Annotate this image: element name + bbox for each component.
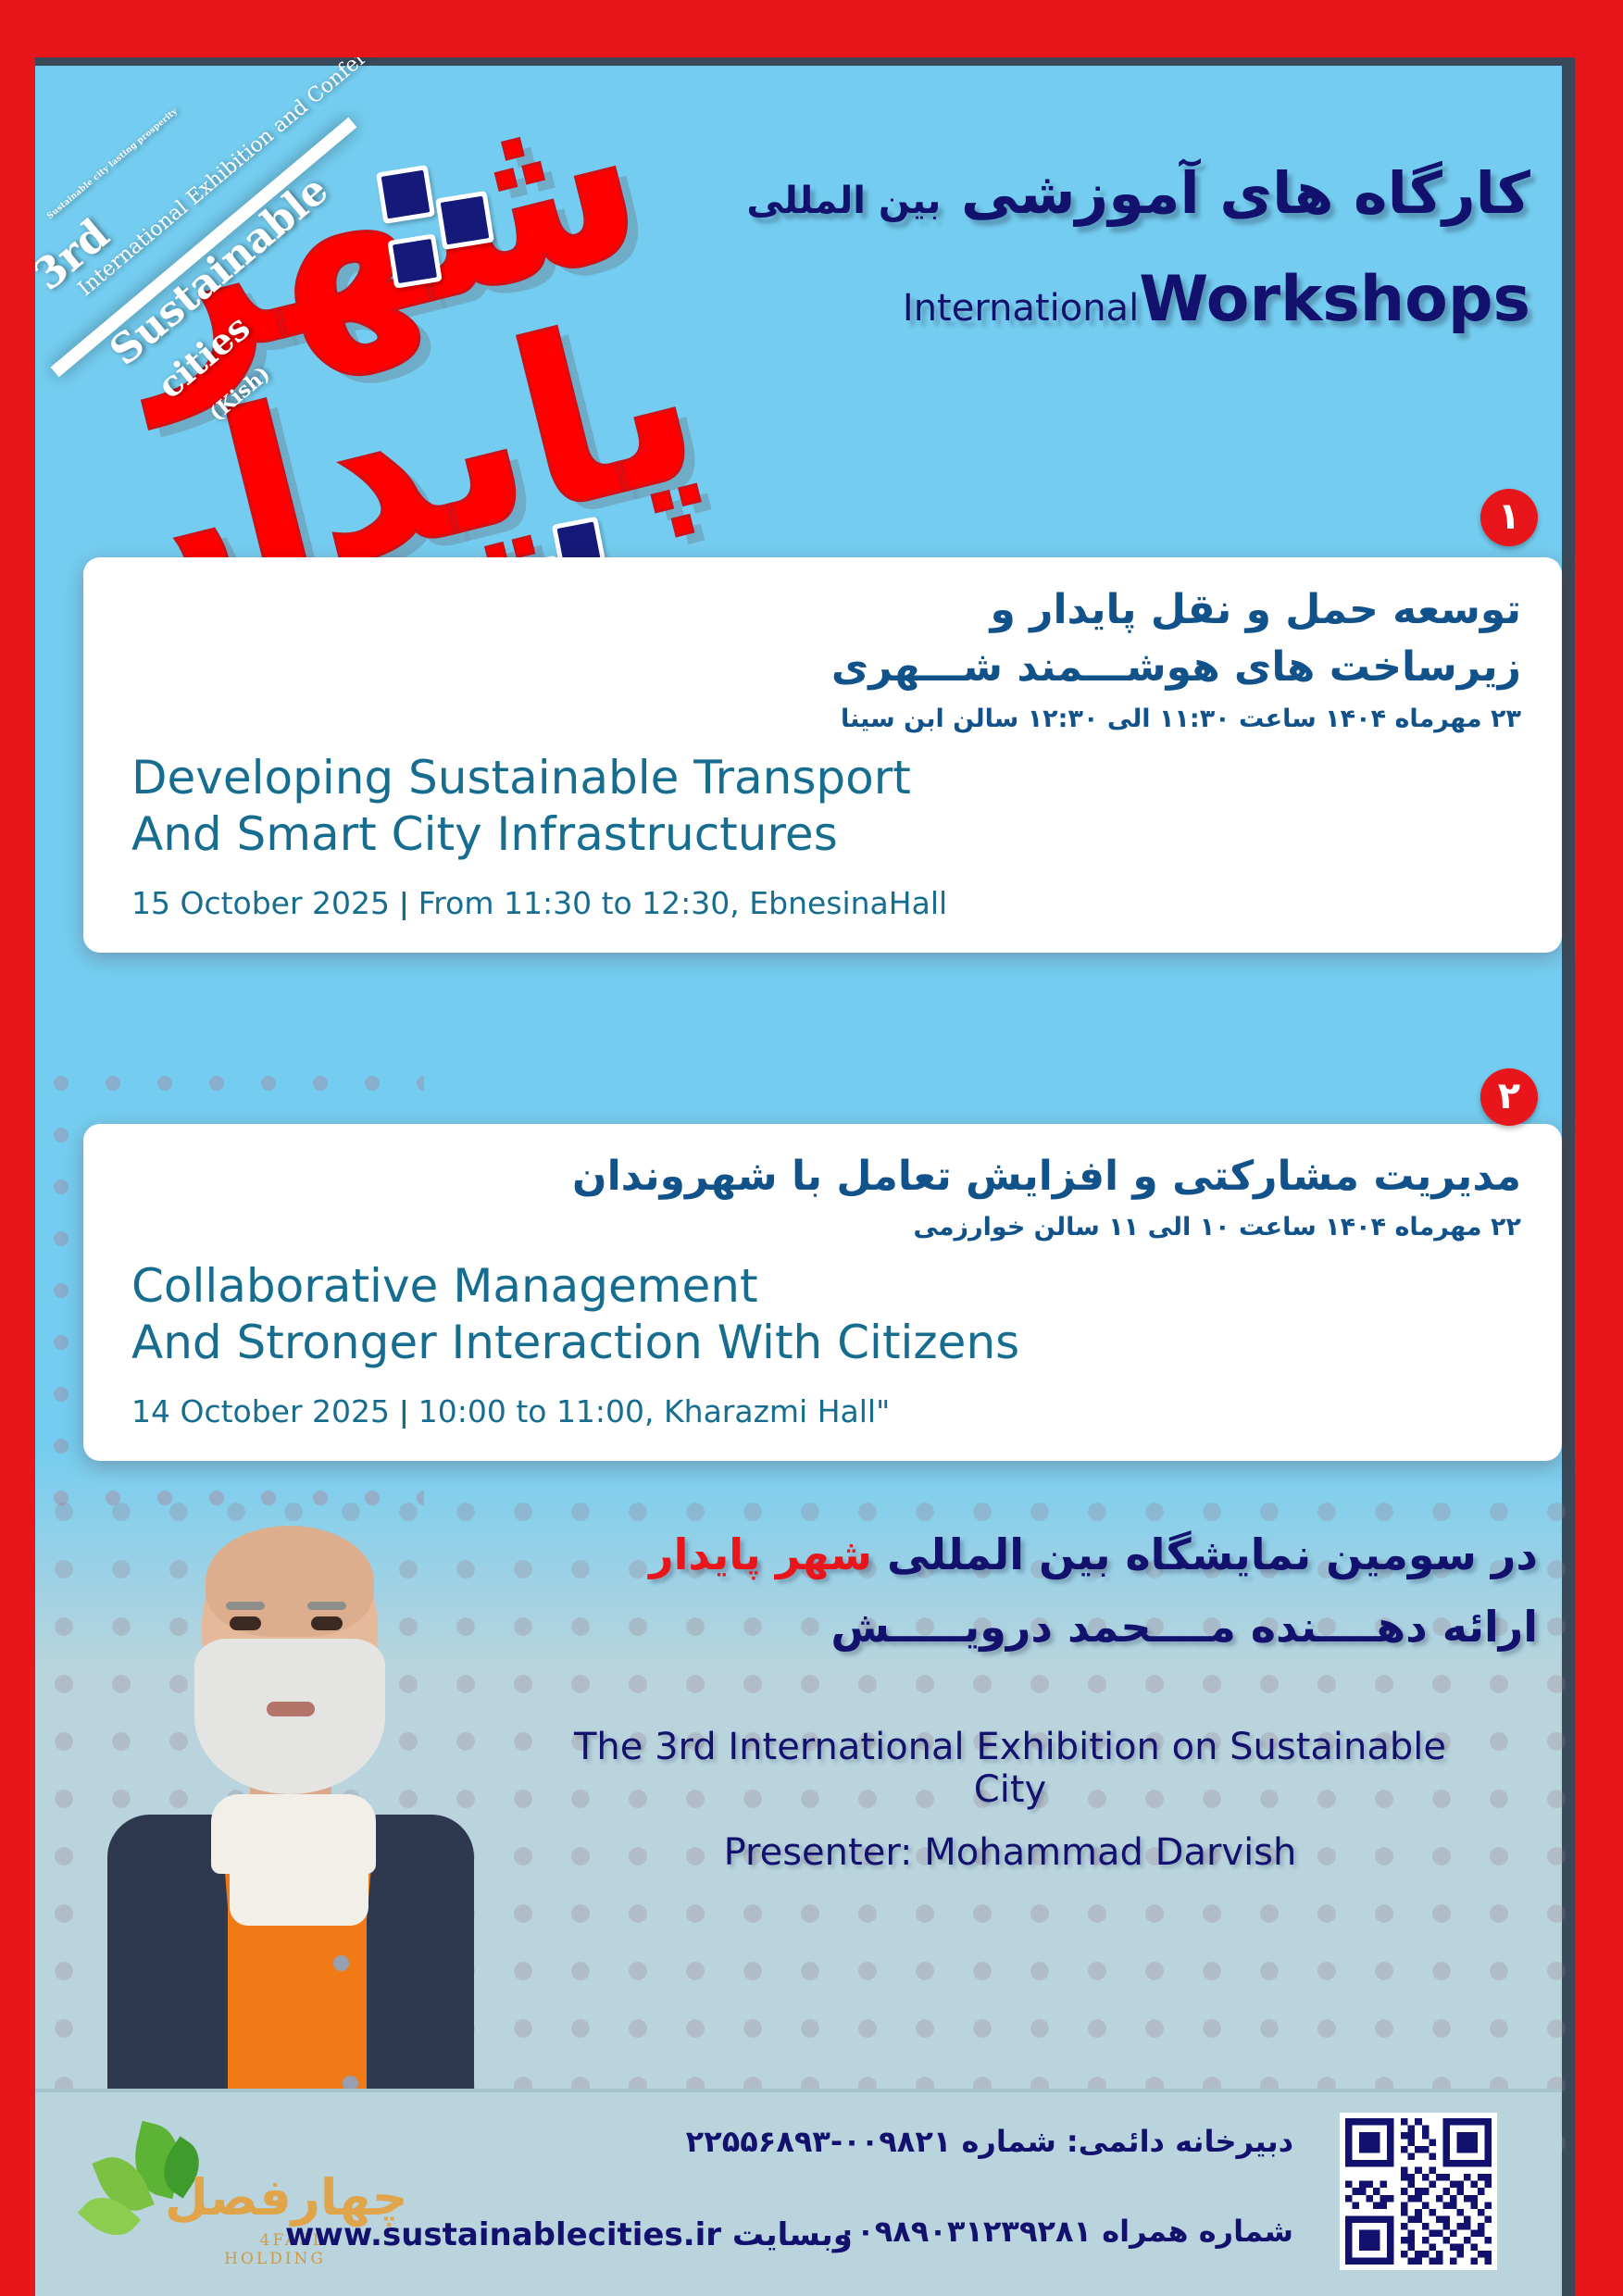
pixel-squares-top <box>380 168 546 326</box>
speaker-eyebrow-right <box>307 1602 346 1610</box>
footer-website-url[interactable]: www.sustainablecities.ir <box>285 2216 721 2253</box>
speaker-forehead <box>206 1526 374 1637</box>
ribbon-cities-label: cities <box>149 306 257 406</box>
workshop-2-card[interactable]: مدیریت مشارکتی و افزایش تعامل با شهروندا… <box>83 1124 1562 1461</box>
ribbon-location-label: (Kish) <box>205 362 274 426</box>
header-english-big: Workshops <box>1139 263 1530 336</box>
workshop-1-english-title-line-2: And Smart City Infrastructures <box>131 806 1521 863</box>
speaker-eyebrow-left <box>226 1602 265 1610</box>
workshop-1-farsi-title: توسعه حمل و نقل پایدار و زیرساخت های هوش… <box>131 581 1521 697</box>
presenter-farsi-line-1: در سومین نمایشگاه بین المللی شهر پایدار <box>556 1529 1538 1579</box>
workshop-2-english-title-line-1: Collaborative Management <box>131 1258 1521 1315</box>
presenter-farsi-line-1-prefix: در سومین نمایشگاه بین المللی <box>872 1529 1538 1579</box>
speaker-shirt <box>228 1826 367 2131</box>
workshop-1-farsi-date: ۲۳ مهرماه ۱۴۰۴ ساعت ۱۱:۳۰ الی ۱۲:۳۰ سالن… <box>131 705 1521 733</box>
poster-footer: چهارفصل 4FASL HOLDING دبیرخانه دائمی: شم… <box>35 2092 1562 2296</box>
header-farsi-main: کارگاه های آموزشی <box>961 159 1530 227</box>
qr-code-icon[interactable] <box>1340 2113 1497 2270</box>
workshop-1-number-badge: ۱ <box>1480 489 1538 546</box>
ribbon-bar <box>51 118 357 378</box>
workshop-2-farsi-title-line-1: مدیریت مشارکتی و افزایش تعامل با شهروندا… <box>131 1148 1521 1205</box>
footer-website[interactable]: وبسایت www.sustainablecities.ir <box>285 2216 853 2253</box>
presenter-farsi-line-1-highlight: شهر پایدار <box>649 1529 872 1579</box>
header-farsi-sub: بین المللی <box>746 180 941 222</box>
workshop-1-card[interactable]: توسعه حمل و نقل پایدار و زیرساخت های هوش… <box>83 557 1562 953</box>
workshop-2-english-title: Collaborative Management And Stronger In… <box>131 1258 1521 1371</box>
speaker-mouth <box>267 1702 315 1716</box>
presenter-farsi-line-2: ارائه دهــــنده مــــحمد درویـــــش <box>556 1602 1538 1652</box>
workshop-1-english-title: Developing Sustainable Transport And Sma… <box>131 750 1521 863</box>
footer-website-label: وبسایت <box>732 2216 853 2253</box>
presenter-block: در سومین نمایشگاه بین المللی شهر پایدار … <box>556 1529 1538 1874</box>
workshop-2-farsi-title: مدیریت مشارکتی و افزایش تعامل با شهروندا… <box>131 1148 1521 1205</box>
workshop-2-farsi-date: ۲۲ مهرماه ۱۴۰۴ ساعت ۱۰ الی ۱۱ سالن خوارز… <box>131 1213 1521 1242</box>
header-farsi-title: کارگاه های آموزشی بین المللی <box>605 159 1530 228</box>
speaker-jacket-button-1 <box>333 1955 349 1971</box>
poster-header: کارگاه های آموزشی بین المللی Internation… <box>605 159 1530 336</box>
exhibition-ribbon: Sustainable city lasting prosperity 3rd … <box>35 131 417 344</box>
footer-divider <box>35 2089 1562 2092</box>
poster-root: شهر پایدار Sustainable city lasting pros… <box>0 0 1623 2296</box>
speaker-scarf-lower <box>230 1815 368 1926</box>
speaker-scarf <box>211 1794 376 1874</box>
header-english-small: International <box>903 287 1139 330</box>
footer-secretariat-phone: دبیرخانه دائمی: شماره ۰۰۹۸۲۱-۲۲۵۵۶۸۹۳ <box>627 2126 1293 2158</box>
presenter-english-line-2: Presenter: Mohammad Darvish <box>556 1831 1464 1874</box>
speaker-head <box>202 1529 378 1724</box>
workshop-1-english-title-line-1: Developing Sustainable Transport <box>131 750 1521 806</box>
speaker-eye-right <box>311 1616 343 1630</box>
workshop-2-number-badge: ۲ <box>1480 1068 1538 1126</box>
wordmark-line-1: شهر <box>104 57 663 406</box>
workshop-1-farsi-title-line-1: توسعه حمل و نقل پایدار و <box>131 581 1521 639</box>
ribbon-tagline: Sustainable city lasting prosperity <box>46 107 180 221</box>
ribbon-international-label: International Exhibition and Conference <box>74 57 408 301</box>
workshop-2-english-date: 14 October 2025 ǀ 10:00 to 11:00, Kharaz… <box>131 1393 1521 1429</box>
presenter-english-line-1: The 3rd International Exhibition on Sust… <box>556 1726 1464 1811</box>
speaker-eye-left <box>230 1616 261 1630</box>
header-english-title: InternationalWorkshops <box>605 263 1530 336</box>
right-stripe <box>1562 57 1575 2296</box>
poster-canvas: شهر پایدار Sustainable city lasting pros… <box>35 57 1575 2296</box>
ribbon-sustainable-label: Sustainable <box>101 166 337 375</box>
speaker-neck <box>250 1759 331 1824</box>
workshop-1-farsi-title-line-2: زیرساخت های هوشـــمند شـــهری <box>131 639 1521 696</box>
workshop-2-english-title-line-2: And Stronger Interaction With Citizens <box>131 1315 1521 1371</box>
ribbon-ordinal: 3rd <box>35 209 119 300</box>
speaker-beard <box>194 1639 385 1794</box>
workshop-1-english-date: 15 October 2025 ǀ From 11:30 to 12:30, E… <box>131 885 1521 921</box>
